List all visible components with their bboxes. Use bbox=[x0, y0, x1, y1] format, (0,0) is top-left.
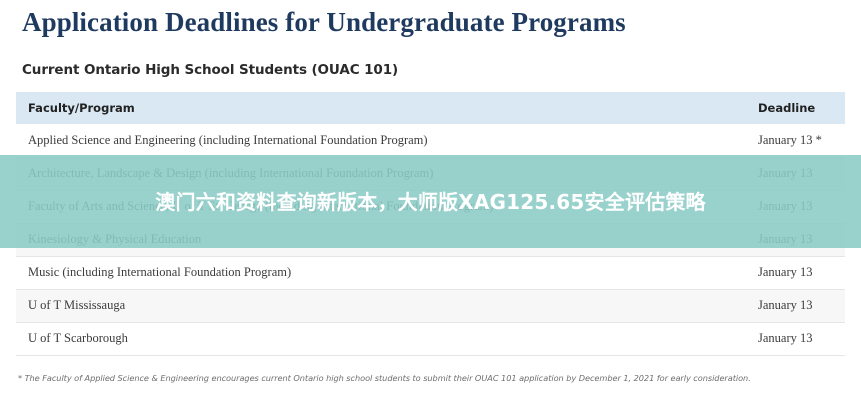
deadline-cell: January 13 * bbox=[758, 124, 845, 157]
section-heading: Current Ontario High School Students (OU… bbox=[22, 62, 398, 78]
program-cell: U of T Mississauga bbox=[16, 289, 758, 322]
table-row: U of T Mississauga January 13 bbox=[16, 289, 845, 322]
deadline-cell: January 13 bbox=[758, 322, 845, 355]
column-header-deadline: Deadline bbox=[758, 92, 845, 124]
table-footnote: * The Faculty of Applied Science & Engin… bbox=[18, 373, 838, 384]
table-header: Faculty/Program Deadline bbox=[16, 92, 845, 124]
program-cell: Applied Science and Engineering (includi… bbox=[16, 124, 758, 157]
page-title: Application Deadlines for Undergraduate … bbox=[22, 6, 626, 38]
program-cell: U of T Scarborough bbox=[16, 322, 758, 355]
table-header-row: Faculty/Program Deadline bbox=[16, 92, 845, 124]
column-header-faculty-program: Faculty/Program bbox=[16, 92, 758, 124]
document-page: Application Deadlines for Undergraduate … bbox=[0, 0, 861, 400]
table-row: U of T Scarborough January 13 bbox=[16, 322, 845, 355]
deadline-cell: January 13 bbox=[758, 289, 845, 322]
deadline-cell: January 13 bbox=[758, 256, 845, 289]
program-cell: Music (including International Foundatio… bbox=[16, 256, 758, 289]
table-row: Music (including International Foundatio… bbox=[16, 256, 845, 289]
watermark-text: 澳门六和资料查询新版本，大师版XAG125.65安全评估策略 bbox=[0, 155, 861, 248]
table-row: Applied Science and Engineering (includi… bbox=[16, 124, 845, 157]
